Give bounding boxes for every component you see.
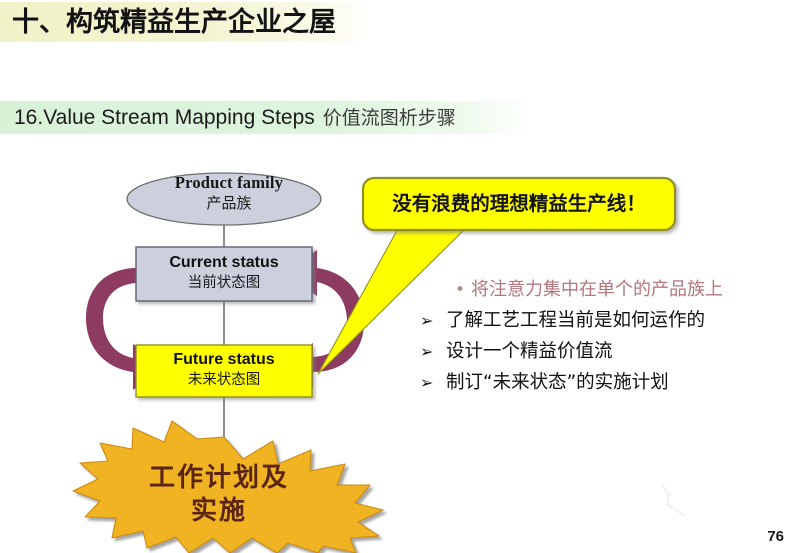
dot-bullet-icon: •: [455, 280, 471, 300]
current-status-box: [136, 247, 312, 301]
bullet-item-2: ➢ 设计一个精益价值流: [420, 337, 800, 368]
arrow-bullet-icon: ➢: [420, 342, 446, 361]
bullet-item-3-text: 制订“未来状态”的实施计划: [446, 368, 669, 398]
arrow-bullet-icon: ➢: [420, 373, 446, 392]
callout-label: 没有浪费的理想精益生产线！: [374, 189, 664, 219]
bullet-highlight-text: 将注意力集中在单个的产品族上: [471, 276, 723, 304]
bullet-item-3: ➢ 制订“未来状态”的实施计划: [420, 368, 800, 399]
bullet-highlight-row: • 将注意力集中在单个的产品族上: [455, 276, 800, 306]
page-number: 76: [767, 528, 784, 545]
bullet-item-1: ➢ 了解工艺工程当前是如何运作的: [420, 306, 800, 337]
arrow-bullet-icon: ➢: [420, 311, 446, 330]
watermark-scribble: [655, 480, 695, 520]
bullet-item-2-text: 设计一个精益价值流: [446, 337, 613, 367]
bullet-list: • 将注意力集中在单个的产品族上 ➢ 了解工艺工程当前是如何运作的 ➢ 设计一个…: [420, 276, 800, 399]
future-status-box: [136, 345, 312, 397]
bullet-item-1-text: 了解工艺工程当前是如何运作的: [446, 306, 705, 336]
work-plan-starburst: [73, 421, 383, 553]
product-family-ellipse: [127, 173, 321, 225]
